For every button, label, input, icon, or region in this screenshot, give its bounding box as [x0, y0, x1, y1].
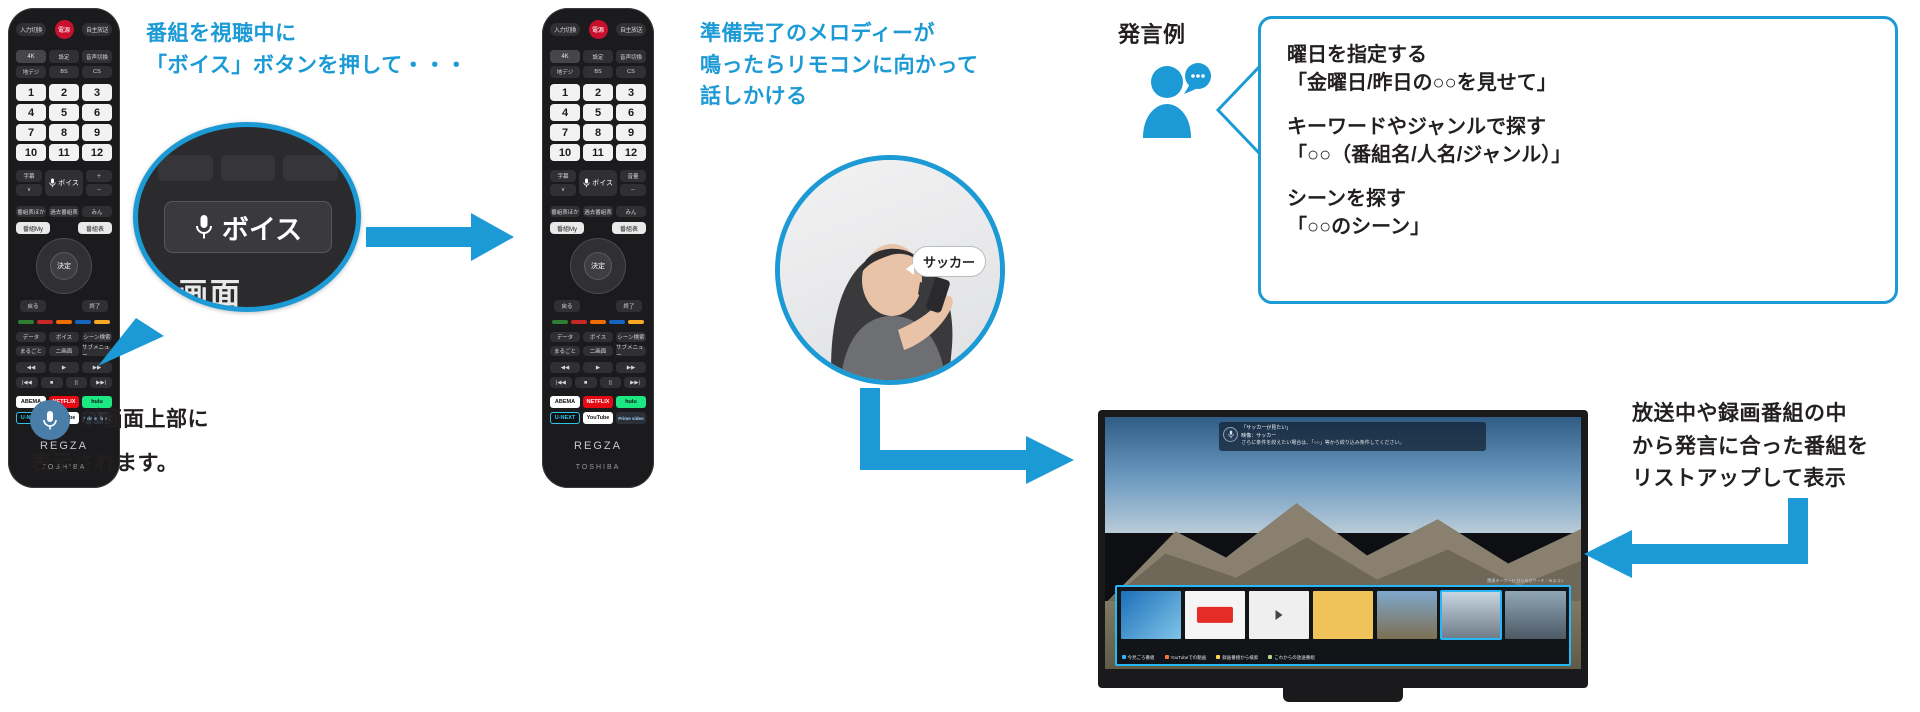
numeric-keypad: 1 2 3 4 5 6 7 8 9 10 11 12 — [16, 84, 112, 161]
input-select-button-2: 入力切換 — [550, 23, 580, 36]
numkey-2: 2 — [49, 84, 79, 101]
key-program-my-2: 番組My — [550, 222, 584, 234]
tv-osd-line2: 映像：サッカー — [1241, 433, 1481, 441]
key-play: ▶ — [49, 362, 79, 373]
key-voice-small-2: ボイス — [583, 332, 613, 342]
microphone-icon — [194, 213, 214, 241]
key-audio-switch-2: 音声切換 — [616, 50, 646, 63]
remote-row-4k: 4K 設定 音声切換 — [16, 50, 112, 63]
numkey-10: 10 — [16, 144, 46, 161]
numkey-9: 9 — [82, 124, 112, 141]
remote-nav-row-2: 番組My 番組表 — [550, 222, 646, 234]
broadcast-button-2: 自主放送 — [616, 23, 646, 36]
key-guide-etc: 番組表ほか — [16, 206, 46, 217]
key-data-2: データ — [550, 332, 580, 342]
tv-screen: 「サッカーが見たい」 映像：サッカー さらに条件を絞えたい場合は、「○○」等から… — [1105, 417, 1581, 669]
magnified-voice-button: ボイス — [164, 201, 332, 253]
numkey-5-b: 5 — [583, 104, 613, 121]
power-button-2: 電源 — [589, 20, 608, 39]
arrow-step1-to-step2 — [366, 208, 516, 268]
key-submenu-2: サブメニュー — [616, 346, 646, 356]
tv-device: 「サッカーが見たい」 映像：サッカー さらに条件を絞えたい場合は、「○○」等から… — [1098, 410, 1588, 688]
numkey-12: 12 — [82, 144, 112, 161]
key-channel-down: ∨ — [16, 184, 42, 196]
numkey-6-b: 6 — [616, 104, 646, 121]
key-prev: |◀◀ — [16, 377, 38, 388]
microphone-icon — [30, 400, 70, 440]
remote-func-row-b2: まるごと 二画面 サブメニュー — [550, 346, 646, 356]
remote-app-row-b2: U-NEXT YouTube Prime video — [550, 412, 646, 424]
key-program-my: 番組My — [16, 222, 50, 234]
step4-caption: 放送中や録画番組の中 から発言に合った番組を リストアップして表示 — [1632, 398, 1920, 496]
numkey-7-b: 7 — [550, 124, 580, 141]
key-channel-down-2: ∨ — [550, 184, 576, 196]
numkey-1: 1 — [16, 84, 46, 101]
step2-caption-line1: 準備完了のメロディーが — [700, 18, 1060, 50]
key-voice-small: ボイス — [49, 332, 79, 342]
key-past-guide-2: 過去番組表 — [583, 206, 613, 217]
speech-example-2-title: キーワードやジャンルで探す — [1287, 113, 1869, 141]
tv-stand — [1283, 688, 1403, 702]
remote-top-row-2: 入力切換 電源 自主放送 — [550, 16, 646, 42]
numkey-9-b: 9 — [616, 124, 646, 141]
remote-transport-row-b1: ◀◀ ▶ ▶▶ — [550, 362, 646, 373]
voice-button-magnifier: ボイス 二画面 — [133, 122, 361, 312]
numkey-7: 7 — [16, 124, 46, 141]
numkey-10-b: 10 — [550, 144, 580, 161]
woman-speaking-photo: サッカー — [775, 155, 1005, 385]
key-subtitle: 字幕 — [16, 170, 42, 182]
key-subtitle-2: 字幕 — [550, 170, 576, 182]
key-pause: || — [66, 377, 88, 388]
numkey-8: 8 — [49, 124, 79, 141]
remote-app-row-b1: ABEMA NETFLIX hulu — [550, 396, 646, 408]
step1-note-line1: が画面上部に — [80, 404, 209, 437]
remote-menu-row-2: 番組表ほか 過去番組表 みん — [550, 206, 646, 217]
numkey-1-b: 1 — [550, 84, 580, 101]
key-past-guide: 過去番組表 — [49, 206, 79, 217]
key-rewind: ◀◀ — [16, 362, 46, 373]
tv-category-3: これからの放送番組 — [1268, 655, 1315, 661]
microphone-icon — [583, 178, 590, 188]
key-terrestrial: 地デジ — [16, 66, 46, 78]
numeric-keypad-2: 1 2 3 4 5 6 7 8 9 10 11 12 — [550, 84, 646, 161]
key-terrestrial-2: 地デジ — [550, 66, 580, 78]
step1-note-line2: 表示されます。 — [30, 448, 330, 481]
key-scene-search-2: シーン検索 — [616, 332, 646, 342]
magnified-voice-label: ボイス — [222, 208, 302, 247]
numkey-3: 3 — [82, 84, 112, 101]
arrow-to-tv-list — [1560, 498, 1810, 618]
numkey-4: 4 — [16, 104, 46, 121]
speech-example-1: 曜日を指定する 「金曜日/昨日の○○を見せて」 — [1287, 41, 1869, 97]
key-back-2: 戻る — [554, 300, 580, 312]
tv-osd-line1: 「サッカーが見たい」 — [1241, 425, 1481, 433]
remote-top-row: 入力切換 電源 自主放送 — [16, 16, 112, 42]
key-fastforward-2: ▶▶ — [616, 362, 646, 373]
tv-thumbnail-row — [1121, 591, 1566, 639]
key-next: ▶▶| — [90, 377, 112, 388]
thumb-program — [1505, 591, 1565, 639]
broadcast-button: 自主放送 — [82, 23, 112, 36]
key-volume-label-2: 音量 — [620, 170, 646, 182]
microphone-icon — [1223, 427, 1238, 442]
speech-example-3-quote: 「○○のシーン」 — [1287, 213, 1869, 241]
step3-label: 発言例 — [1118, 18, 1186, 52]
tv-category-2: 録画番組から検索 — [1216, 655, 1258, 661]
speech-examples-list: 曜日を指定する 「金曜日/昨日の○○を見せて」 キーワードやジャンルで探す 「○… — [1261, 19, 1895, 263]
remote-transport-row-2: |◀◀ ■ || ▶▶| — [16, 377, 112, 388]
remote-func-row-b1: データ ボイス シーン検索 — [550, 332, 646, 342]
speech-balloon: サッカー — [912, 246, 986, 277]
step1-caption-line1: 番組を視聴中に — [146, 18, 476, 50]
key-stop: ■ — [41, 377, 63, 388]
remote-right: 入力切換 電源 自主放送 4K 設定 音声切換 地デジ BS CS 1 2 3 … — [542, 8, 654, 488]
bubble-connector — [1212, 60, 1264, 160]
thumb-program-selected — [1441, 591, 1501, 639]
speech-example-1-quote: 「金曜日/昨日の○○を見せて」 — [1287, 69, 1869, 97]
app-abema-2: ABEMA — [550, 396, 580, 408]
speech-example-2: キーワードやジャンルで探す 「○○（番組名/人名/ジャンル）」 — [1287, 113, 1869, 169]
voice-button-label-2: ボイス — [592, 178, 613, 188]
key-4k-2: 4K — [550, 50, 580, 63]
key-next-2: ▶▶| — [624, 377, 646, 388]
arrow-step2-to-step4 — [860, 388, 1080, 498]
microphone-icon — [49, 178, 56, 188]
key-pause-2: || — [600, 377, 622, 388]
numkey-4-b: 4 — [550, 104, 580, 121]
key-settings: 設定 — [49, 50, 79, 63]
tv-category-0: 今見ごろ番組 — [1122, 655, 1155, 661]
remote-row-bs-2: 地デジ BS CS — [550, 66, 646, 78]
dpad-ok-button: 決定 — [50, 252, 78, 280]
app-unext-2: U-NEXT — [550, 412, 580, 424]
key-rewind-2: ◀◀ — [550, 362, 580, 373]
remote-maker-2: TOSHIBA — [542, 464, 654, 471]
magnified-partial-label: 二画面 — [146, 269, 356, 312]
speech-example-2-quote: 「○○（番組名/人名/ジャンル）」 — [1287, 141, 1869, 169]
step1-caption-line2: 「ボイス」ボタンを押して・・・ — [146, 50, 476, 82]
key-guide-etc-2: 番組表ほか — [550, 206, 580, 217]
key-dual-screen-2: 二画面 — [583, 346, 613, 356]
numkey-3-b: 3 — [616, 84, 646, 101]
power-button: 電源 — [55, 20, 74, 39]
tv-result-list: 関連キーワード ひらめきサーチ／みるコレ 今見ごろ番組 — [1115, 585, 1572, 666]
thumb-youtube — [1185, 591, 1245, 639]
input-select-button: 入力切換 — [16, 23, 46, 36]
voice-button-2: ボイス — [579, 170, 617, 196]
magnifier-content: ボイス 二画面 — [138, 127, 356, 307]
numkey-12-b: 12 — [616, 144, 646, 161]
key-prev-2: |◀◀ — [550, 377, 572, 388]
person-speaking-icon — [1140, 60, 1214, 140]
dpad-ok-button-2: 決定 — [584, 252, 612, 280]
app-hulu-2: hulu — [616, 396, 646, 408]
step4-caption-line2: から発言に合った番組を — [1632, 431, 1920, 464]
speech-example-3: シーンを探す 「○○のシーン」 — [1287, 185, 1869, 241]
key-volume-down-2: － — [620, 184, 646, 196]
key-stop-2: ■ — [575, 377, 597, 388]
numkey-5: 5 — [49, 104, 79, 121]
numkey-8-b: 8 — [583, 124, 613, 141]
tv-category-1: YouTubeでの動画 — [1165, 655, 1207, 661]
remote-row-4k-2: 4K 設定 音声切換 — [550, 50, 646, 63]
thumb-video-play — [1249, 591, 1309, 639]
remote-voice-volume-row-2: 字幕 ∨ ボイス 音量 － — [550, 170, 646, 196]
step4-caption-line3: リストアップして表示 — [1632, 463, 1920, 496]
speech-examples-box: 曜日を指定する 「金曜日/昨日の○○を見せて」 キーワードやジャンルで探す 「○… — [1258, 16, 1898, 304]
remote-brand-2: REGZA — [542, 440, 654, 452]
key-bs: BS — [49, 66, 79, 78]
key-back: 戻る — [20, 300, 46, 312]
key-bs-2: BS — [583, 66, 613, 78]
step2-caption: 準備完了のメロディーが 鳴ったらリモコンに向かって 話しかける — [700, 18, 1060, 113]
step2-caption-line2: 鳴ったらリモコンに向かって — [700, 50, 1060, 82]
key-audio-switch: 音声切換 — [82, 50, 112, 63]
step2-caption-line3: 話しかける — [700, 81, 1060, 113]
key-exit-2: 終了 — [616, 300, 642, 312]
app-youtube-2: YouTube — [583, 412, 613, 424]
key-data: データ — [16, 332, 46, 342]
key-cs-2: CS — [616, 66, 646, 78]
key-program-guide-2: 番組表 — [612, 222, 646, 234]
tv-list-note: 関連キーワード ひらめきサーチ／みるコレ — [1487, 578, 1564, 584]
key-marugoto-2: まるごと — [550, 346, 580, 356]
voice-button: ボイス — [45, 170, 83, 196]
thumb-app-tile — [1121, 591, 1181, 639]
numkey-2-b: 2 — [583, 84, 613, 101]
remote-row-bs: 地デジ BS CS — [16, 66, 112, 78]
remote-transport-row-b2: |◀◀ ■ || ▶▶| — [550, 377, 646, 388]
key-minna-2: みん — [616, 206, 646, 217]
tv-category-legend: 今見ごろ番組 YouTubeでの動画 録画番組から検索 これからの放送番組 — [1122, 655, 1315, 661]
tv-osd-line3: さらに条件を絞えたい場合は、「○○」等から絞り込み条件してください。 — [1241, 440, 1481, 448]
key-dual-screen: 二画面 — [49, 346, 79, 356]
thumb-grid — [1313, 591, 1373, 639]
numkey-11-b: 11 — [583, 144, 613, 161]
speech-example-1-title: 曜日を指定する — [1287, 41, 1869, 69]
color-keys-2 — [552, 320, 644, 324]
speech-balloon-text: サッカー — [923, 255, 975, 270]
magnifier-top-keys — [158, 153, 338, 183]
key-cs: CS — [82, 66, 112, 78]
key-marugoto: まるごと — [16, 346, 46, 356]
numkey-11: 11 — [49, 144, 79, 161]
numkey-6: 6 — [82, 104, 112, 121]
speech-example-3-title: シーンを探す — [1287, 185, 1869, 213]
step1-note: が画面上部に 表示されます。 — [30, 400, 330, 481]
step4-caption-line1: 放送中や録画番組の中 — [1632, 398, 1920, 431]
app-prime-video-2: Prime video — [616, 412, 646, 424]
app-netflix-2: NETFLIX — [583, 396, 613, 408]
voice-button-label: ボイス — [58, 178, 79, 188]
key-settings-2: 設定 — [583, 50, 613, 63]
step1-caption: 番組を視聴中に 「ボイス」ボタンを押して・・・ — [146, 18, 476, 81]
key-4k: 4K — [16, 50, 46, 63]
thumb-landscape — [1377, 591, 1437, 639]
tv-voice-osd: 「サッカーが見たい」 映像：サッカー さらに条件を絞えたい場合は、「○○」等から… — [1219, 422, 1486, 451]
key-play-2: ▶ — [583, 362, 613, 373]
diagram-canvas: 入力切換 電源 自主放送 4K 設定 音声切換 地デジ BS CS 1 2 3 … — [0, 0, 1920, 712]
